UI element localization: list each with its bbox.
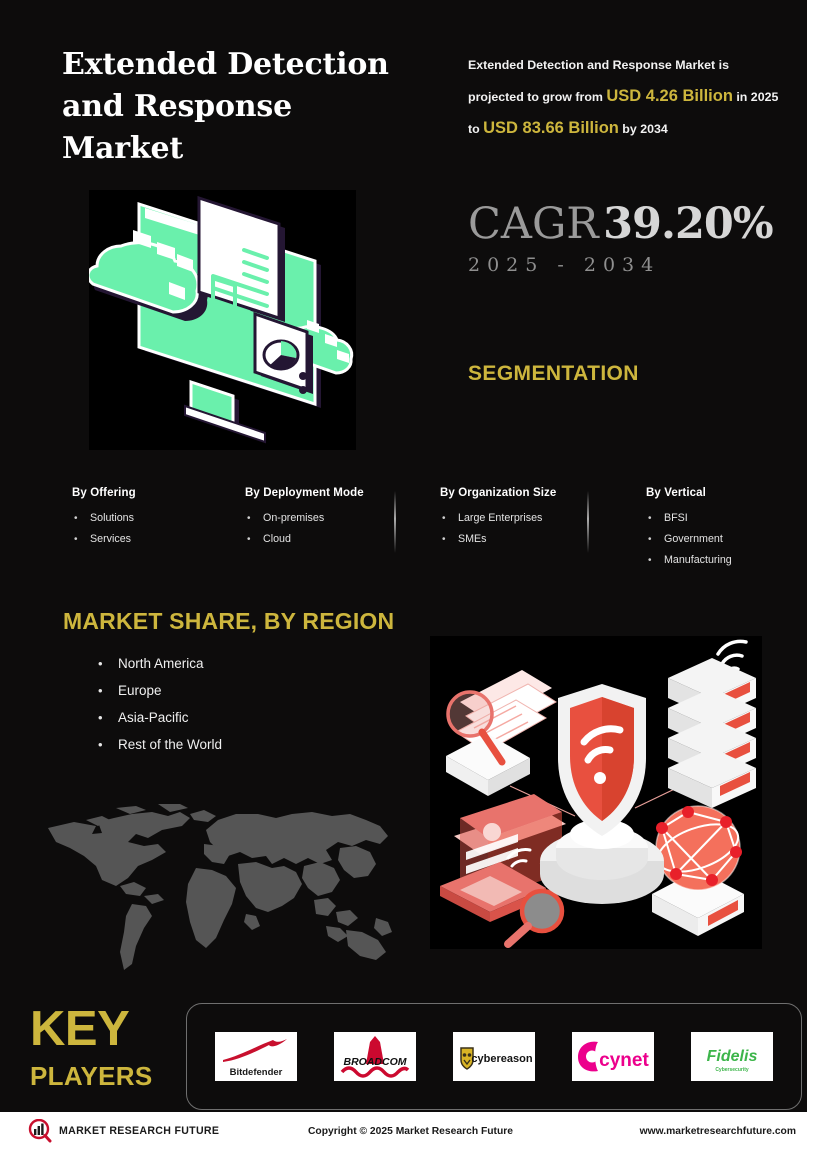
svg-text:Bitdefender: Bitdefender	[230, 1067, 283, 1078]
segment-column-organization-size: By Organization Size Large Enterprises S…	[440, 487, 625, 550]
fidelis-logo-icon: Fidelis Cybersecurity	[693, 1034, 771, 1080]
key-players-logo-box: Bitdefender BROADCOM cybereason	[186, 1003, 802, 1110]
page-title: Extended Detection and Response Market	[62, 44, 422, 170]
region-item: Asia-Pacific	[96, 704, 222, 731]
world-map-icon	[40, 800, 400, 972]
footer-brand: MARKET RESEARCH FUTURE	[28, 1119, 219, 1143]
cagr-label: CAGR	[468, 199, 599, 249]
segment-item: Services	[72, 529, 232, 550]
broadcom-logo-icon: BROADCOM	[336, 1034, 414, 1080]
segment-item: Solutions	[72, 508, 232, 529]
value-2025: USD 4.26 Billion	[606, 87, 733, 105]
key-players-heading-line2: PLAYERS	[30, 1063, 153, 1089]
key-players-heading-line1: KEY	[30, 1005, 129, 1054]
segmentation-columns: By Offering Solutions Services By Deploy…	[62, 487, 762, 579]
footer-copyright: Copyright © 2025 Market Research Future	[308, 1126, 513, 1137]
svg-text:Cybersecurity: Cybersecurity	[715, 1067, 749, 1073]
world-map	[40, 800, 400, 972]
segment-items: On-premises Cloud	[245, 508, 425, 550]
logo-cybereason[interactable]: cybereason	[453, 1032, 535, 1081]
value-2034: USD 83.66 Billion	[483, 119, 619, 137]
cynet-logo-icon: cynet	[574, 1034, 652, 1080]
logo-fidelis[interactable]: Fidelis Cybersecurity	[691, 1032, 773, 1081]
logo-bitdefender[interactable]: Bitdefender	[215, 1032, 297, 1081]
segment-column-vertical: By Vertical BFSI Government Manufacturin…	[646, 487, 806, 571]
segment-title: By Offering	[72, 487, 232, 499]
svg-text:cybereason: cybereason	[471, 1053, 532, 1065]
cagr-line: CAGR 39.20%	[468, 203, 798, 246]
logo-broadcom[interactable]: BROADCOM	[334, 1032, 416, 1081]
segment-item: Government	[646, 529, 806, 550]
svg-text:cynet: cynet	[599, 1050, 649, 1071]
blurb-part3: by 2034	[619, 122, 668, 136]
footer: MARKET RESEARCH FUTURE Copyright © 2025 …	[0, 1112, 814, 1150]
segment-item: BFSI	[646, 508, 806, 529]
region-item: Europe	[96, 677, 222, 704]
isometric-monitor-icon	[89, 190, 356, 450]
region-item: Rest of the World	[96, 731, 222, 758]
cagr-block: CAGR 39.20% 2025 - 2034	[468, 203, 798, 276]
footer-brand-text: MARKET RESEARCH FUTURE	[59, 1125, 219, 1137]
bitdefender-logo-icon: Bitdefender	[217, 1034, 295, 1080]
isometric-shield-network-icon	[430, 636, 762, 949]
market-research-future-logo-icon	[28, 1119, 52, 1143]
svg-text:BROADCOM: BROADCOM	[344, 1056, 407, 1068]
market-share-region-list: North America Europe Asia-Pacific Rest o…	[96, 650, 222, 758]
logo-cynet[interactable]: cynet	[572, 1032, 654, 1081]
segmentation-heading: SEGMENTATION	[468, 362, 639, 386]
cybersecurity-illustration	[430, 636, 762, 949]
region-item: North America	[96, 650, 222, 677]
segment-item: Cloud	[245, 529, 425, 550]
svg-text:Fidelis: Fidelis	[706, 1048, 757, 1065]
footer-url[interactable]: www.marketresearchfuture.com	[640, 1126, 796, 1137]
cagr-value: 39.20%	[603, 199, 773, 249]
segment-column-offering: By Offering Solutions Services	[72, 487, 232, 550]
segment-item: Manufacturing	[646, 550, 806, 571]
segment-items: BFSI Government Manufacturing	[646, 508, 806, 571]
segment-title: By Organization Size	[440, 487, 625, 499]
infographic-page: Extended Detection and Response Market E…	[0, 0, 814, 1150]
market-share-heading: MARKET SHARE, BY REGION	[63, 608, 394, 635]
segment-column-deployment: By Deployment Mode On-premises Cloud	[245, 487, 425, 550]
segment-items: Solutions Services	[72, 508, 232, 550]
segment-item: On-premises	[245, 508, 425, 529]
segment-title: By Deployment Mode	[245, 487, 425, 499]
cybereason-logo-icon: cybereason	[455, 1034, 533, 1080]
market-forecast-blurb: Extended Detection and Response Market i…	[468, 50, 788, 145]
segment-item: Large Enterprises	[440, 508, 625, 529]
segment-items: Large Enterprises SMEs	[440, 508, 625, 550]
cagr-years: 2025 - 2034	[468, 254, 798, 276]
hero-illustration	[89, 190, 356, 450]
segment-item: SMEs	[440, 529, 625, 550]
segment-title: By Vertical	[646, 487, 806, 499]
